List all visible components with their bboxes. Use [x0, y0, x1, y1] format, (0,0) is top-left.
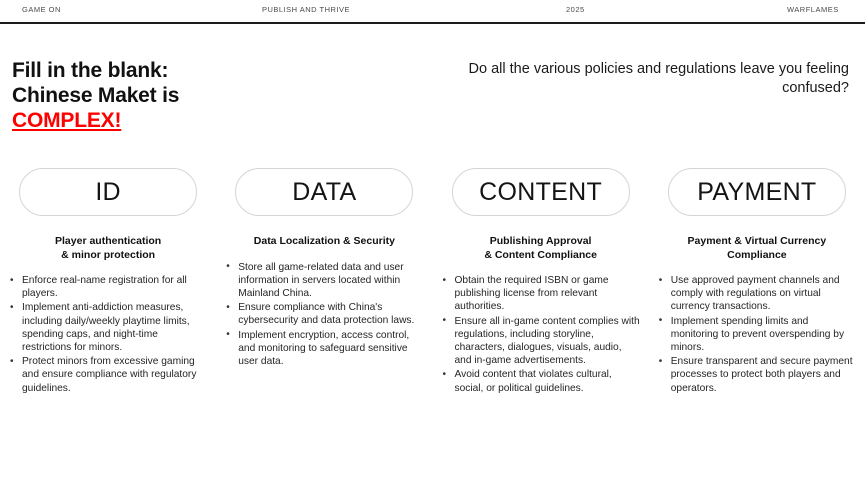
title-accent-word: COMPLEX!: [12, 108, 121, 133]
pill-content-label: CONTENT: [479, 180, 602, 205]
column-data: DATA Data Localization & Security Store …: [216, 168, 432, 396]
list-item: Implement spending limits and monitoring…: [657, 315, 857, 355]
pill-id-label: ID: [95, 180, 121, 205]
column-content-subtitle: Publishing Approval& Content Compliance: [441, 235, 641, 262]
pill-content[interactable]: CONTENT: [452, 168, 630, 216]
slide-canvas: GAME ON PUBLISH AND THRIVE 2025 WARFLAME…: [0, 0, 865, 487]
column-content-bullets: Obtain the required ISBN or game publish…: [441, 274, 641, 396]
column-data-subtitle: Data Localization & Security: [224, 235, 424, 249]
list-item: Enforce real-name registration for all p…: [8, 274, 208, 300]
header-brand-left: GAME ON: [22, 5, 61, 14]
column-id-subtitle: Player authentication& minor protection: [8, 235, 208, 262]
list-item: Ensure all in-game content complies with…: [441, 315, 641, 368]
column-payment-subtitle: Payment & Virtual CurrencyCompliance: [657, 235, 857, 262]
column-payment: PAYMENT Payment & Virtual CurrencyCompli…: [649, 168, 865, 396]
category-columns: ID Player authentication& minor protecti…: [0, 168, 865, 396]
list-item: Protect minors from excessive gaming and…: [8, 355, 208, 395]
list-item: Store all game-related data and user inf…: [224, 261, 424, 301]
list-item: Implement encryption, access control, an…: [224, 329, 424, 369]
header-divider: [0, 22, 865, 24]
list-item: Use approved payment channels and comply…: [657, 274, 857, 314]
page-title: Fill in the blank: Chinese Maket is COMP…: [12, 58, 432, 133]
pill-id[interactable]: ID: [19, 168, 197, 216]
header-brand-right: WARFLAMES: [787, 5, 839, 14]
column-id-bullets: Enforce real-name registration for all p…: [8, 274, 208, 396]
list-item: Avoid content that violates cultural, so…: [441, 368, 641, 394]
title-line-2: Chinese Maket is: [12, 83, 432, 108]
list-item: Obtain the required ISBN or game publish…: [441, 274, 641, 314]
column-payment-bullets: Use approved payment channels and comply…: [657, 274, 857, 396]
pill-payment-label: PAYMENT: [697, 180, 816, 205]
list-item: Implement anti-addiction measures, inclu…: [8, 301, 208, 354]
column-id: ID Player authentication& minor protecti…: [0, 168, 216, 396]
column-data-bullets: Store all game-related data and user inf…: [224, 261, 424, 370]
question-text: Do all the various policies and regulati…: [454, 60, 849, 98]
slide-header: GAME ON PUBLISH AND THRIVE 2025 WARFLAME…: [0, 0, 865, 23]
pill-payment[interactable]: PAYMENT: [668, 168, 846, 216]
list-item: Ensure transparent and secure payment pr…: [657, 355, 857, 395]
header-year: 2025: [566, 5, 585, 14]
header-section-title: PUBLISH AND THRIVE: [262, 5, 350, 14]
pill-data-label: DATA: [292, 180, 356, 205]
column-content: CONTENT Publishing Approval& Content Com…: [433, 168, 649, 396]
title-line-1: Fill in the blank:: [12, 58, 432, 83]
pill-data[interactable]: DATA: [235, 168, 413, 216]
list-item: Ensure compliance with China's cybersecu…: [224, 301, 424, 327]
